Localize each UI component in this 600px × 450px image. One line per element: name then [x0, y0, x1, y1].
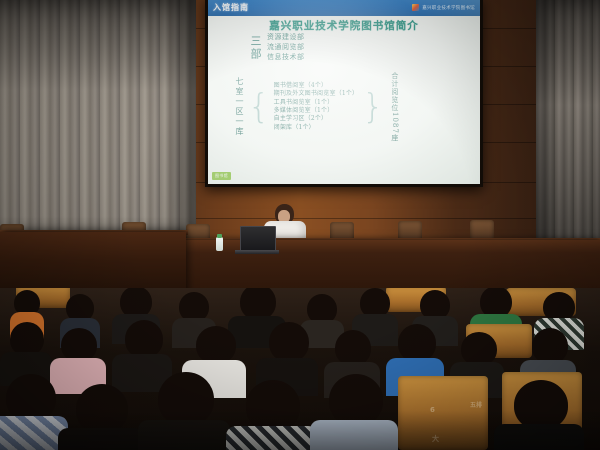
rooms-total-label: 合计阅览位1087座 [390, 72, 399, 142]
audience-area: 6 五排 大 [0, 288, 600, 450]
water-bottle [216, 237, 223, 251]
list-item: 流通阅览部 [267, 43, 305, 52]
left-brace-icon: { [248, 81, 270, 133]
list-item: 资源建设部 [267, 33, 305, 42]
departments-lead-label: 三部 [250, 35, 261, 61]
list-item: 自主学习区（2个） [274, 115, 359, 123]
lecture-hall-photo: 入馆指南 嘉兴职业技术学院图书馆 嘉兴职业技术学院图书馆简介 三部 资源建设部 … [0, 0, 600, 450]
departments-item-list: 资源建设部 流通阅览部 信息技术部 [267, 33, 305, 62]
seat-number-label: 6 [430, 406, 435, 414]
right-brace-icon: } [362, 81, 384, 133]
projection-screen: 入馆指南 嘉兴职业技术学院图书馆 嘉兴职业技术学院图书馆简介 三部 资源建设部 … [205, 0, 483, 187]
rooms-lead-label: 七室一区一库 [234, 77, 244, 137]
slide-banner-right: 嘉兴职业技术学院图书馆 [412, 4, 475, 11]
audience-member [310, 374, 398, 450]
list-item: 工具书阅览室（1个） [274, 99, 359, 107]
slide-banner-organization: 嘉兴职业技术学院图书馆 [422, 5, 475, 11]
audience-member [58, 384, 144, 450]
list-item: 多媒体阅览室（1个） [274, 107, 359, 115]
laptop-base [235, 250, 279, 254]
list-item: 闭架库（1个） [274, 124, 359, 132]
audience-member [494, 380, 584, 450]
water-bottle-cap [217, 234, 222, 238]
slide-title: 嘉兴职业技术学院图书馆简介 [208, 18, 480, 33]
list-item: 期刊及外文图书阅览室（1个） [274, 90, 359, 98]
slide-banner-title: 入馆指南 [213, 2, 249, 13]
audience-member [226, 380, 318, 450]
laptop [240, 226, 276, 253]
seat-row-label: 五排 [470, 400, 482, 409]
institution-logo-icon [412, 4, 419, 11]
seat-back [398, 376, 488, 450]
audience-member [138, 372, 230, 450]
seat-mark-label: 大 [432, 434, 439, 444]
slide-group-rooms: 七室一区一库 { 图书借阅室（4个） 期刊及外文图书阅览室（1个） 工具书阅览室… [234, 72, 399, 142]
slide-group-departments: 三部 资源建设部 流通阅览部 信息技术部 [250, 33, 305, 62]
list-item: 信息技术部 [267, 53, 305, 62]
rooms-item-list: 图书借阅室（4个） 期刊及外文图书阅览室（1个） 工具书阅览室（1个） 多媒体阅… [274, 82, 359, 132]
slide-surface: 入馆指南 嘉兴职业技术学院图书馆 嘉兴职业技术学院图书馆简介 三部 资源建设部 … [208, 0, 480, 184]
slide-footer-badge: 图书馆 [212, 172, 231, 180]
slide-banner: 入馆指南 嘉兴职业技术学院图书馆 [208, 0, 480, 16]
